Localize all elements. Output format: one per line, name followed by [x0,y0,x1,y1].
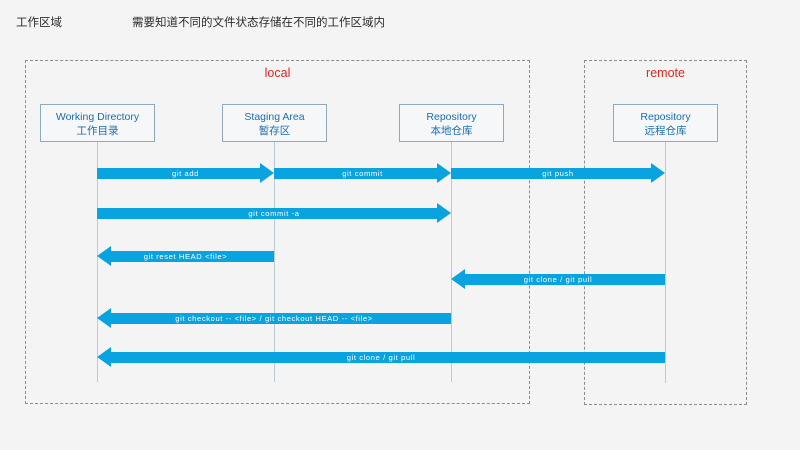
arrow-git-commit: git commit [274,168,451,179]
arrow-git-reset-head: git reset HEAD <file> [97,251,274,262]
arrowhead-right-icon [437,203,451,223]
page-subtitle: 需要知道不同的文件状态存储在不同的工作区域内 [132,14,385,30]
arrow-git-clone-pull-working-directory: git clone / git pull [97,352,665,363]
node-local-repository-en: Repository [400,110,503,124]
node-staging-area[interactable]: Staging Area 暂存区 [222,104,327,142]
arrowhead-left-icon [97,347,111,367]
node-working-directory-en: Working Directory [41,110,154,124]
node-local-repository[interactable]: Repository 本地仓库 [399,104,504,142]
node-remote-repository-en: Repository [614,110,717,124]
node-working-directory[interactable]: Working Directory 工作目录 [40,104,155,142]
arrow-git-commit-a: git commit -a [97,208,451,219]
node-remote-repository-cn: 远程仓库 [614,124,717,138]
arrow-git-clone-pull-repository: git clone / git pull [451,274,665,285]
zone-remote-label: remote [585,61,746,85]
node-working-directory-cn: 工作目录 [41,124,154,138]
arrowhead-right-icon [260,163,274,183]
arrowhead-left-icon [97,308,111,328]
slide-canvas: 工作区域 需要知道不同的文件状态存储在不同的工作区域内 local remote… [0,0,800,450]
arrowhead-right-icon [651,163,665,183]
node-staging-area-cn: 暂存区 [223,124,326,138]
lifeline-remote-repository [665,142,666,383]
arrow-git-push: git push [451,168,665,179]
node-local-repository-cn: 本地仓库 [400,124,503,138]
arrowhead-left-icon [451,269,465,289]
arrowhead-right-icon [437,163,451,183]
arrow-git-checkout: git checkout -- <file> / git checkout HE… [97,313,451,324]
node-remote-repository[interactable]: Repository 远程仓库 [613,104,718,142]
page-title: 工作区域 [16,14,62,30]
arrow-git-add: git add [97,168,274,179]
node-staging-area-en: Staging Area [223,110,326,124]
zone-local-label: local [26,61,529,85]
arrowhead-left-icon [97,246,111,266]
